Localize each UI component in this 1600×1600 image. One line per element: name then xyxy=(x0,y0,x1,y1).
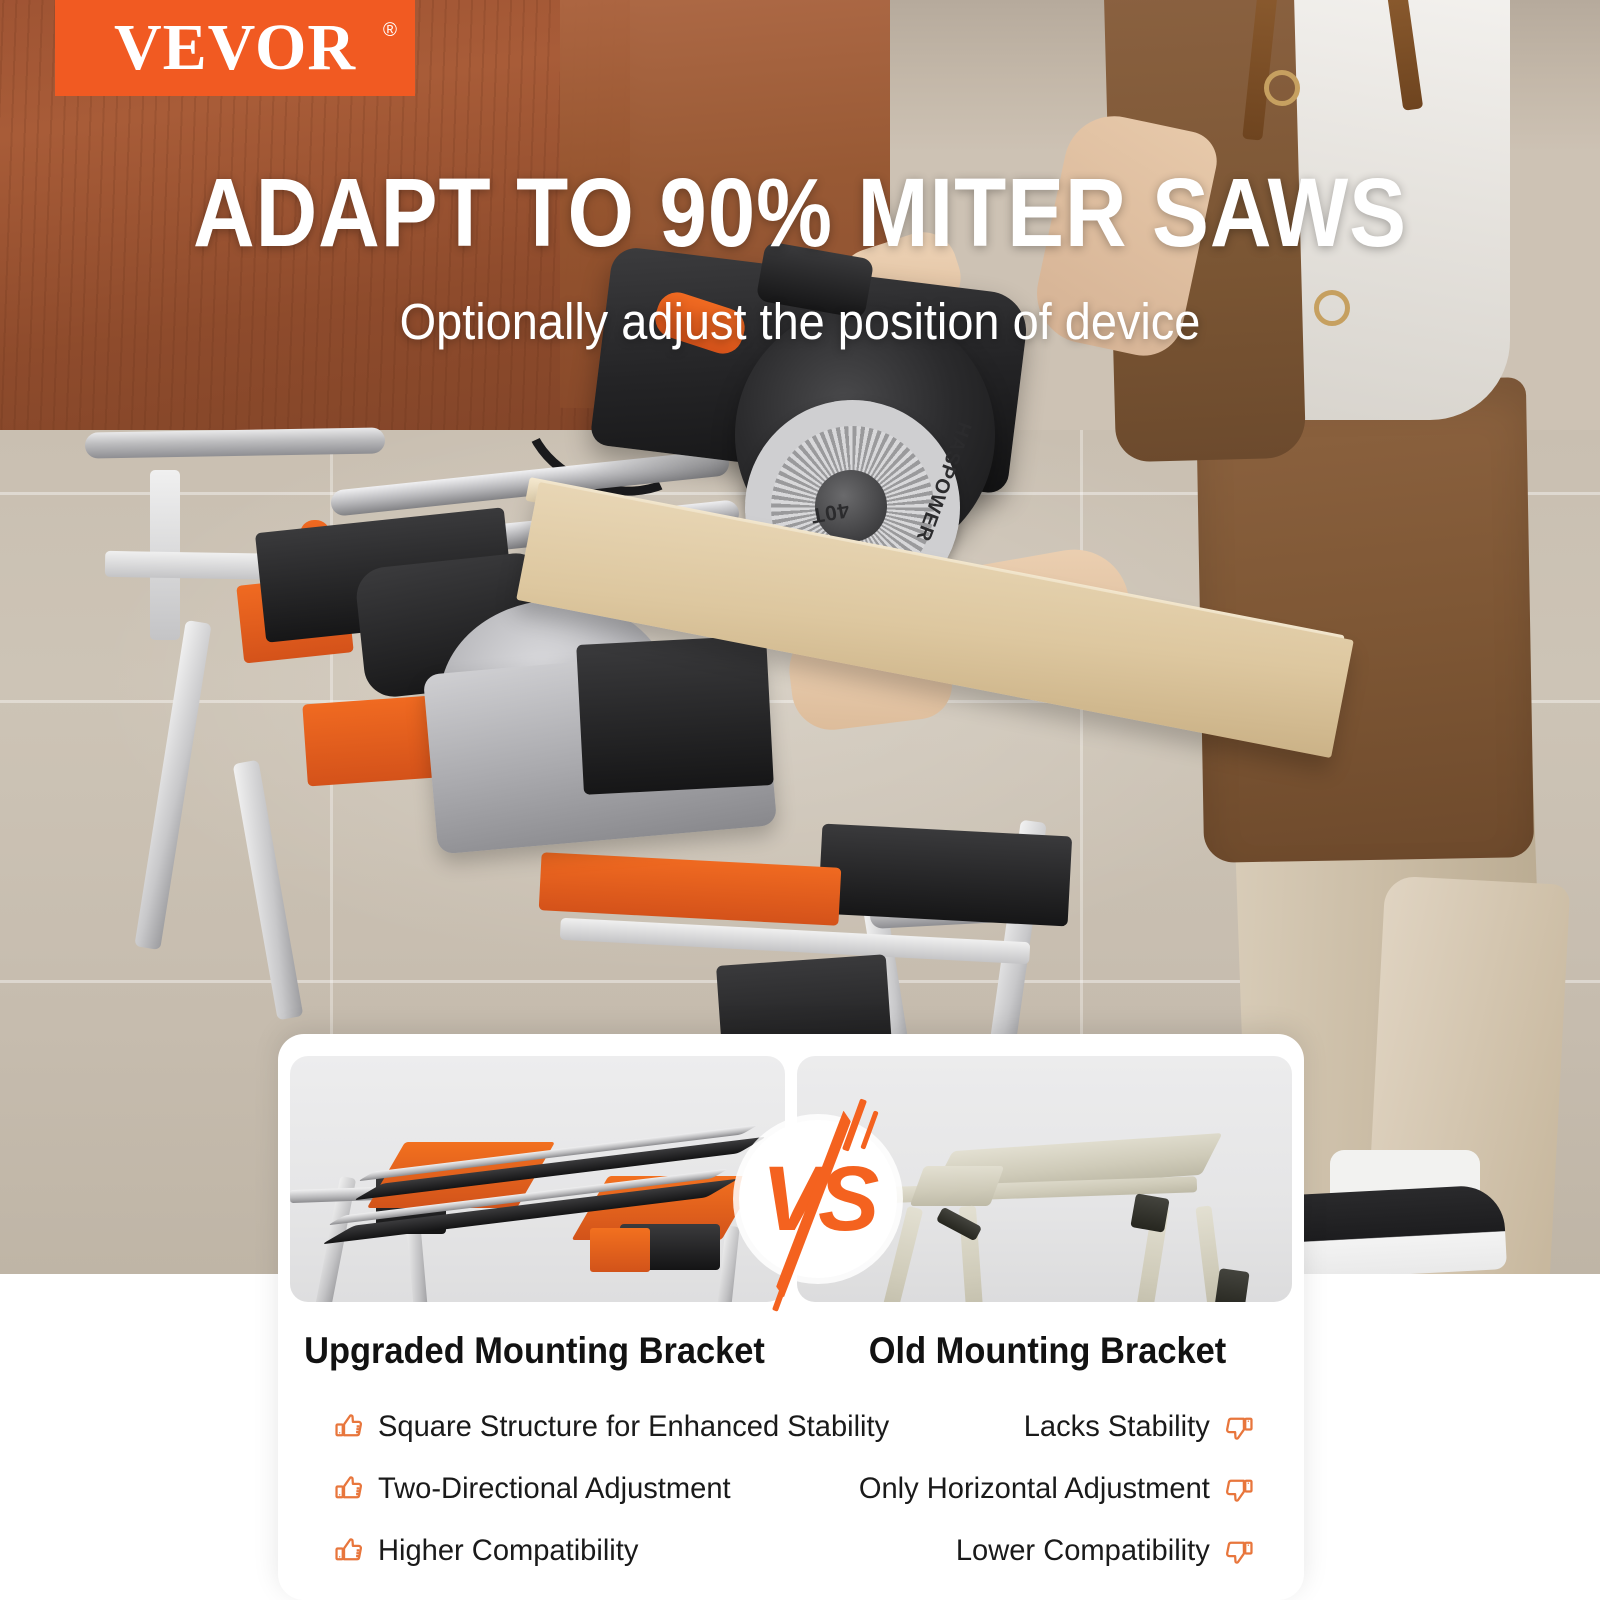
thumbs-up-icon xyxy=(332,1534,366,1568)
worker-shoe xyxy=(1273,1184,1507,1274)
thumbs-down-icon xyxy=(1222,1410,1256,1444)
vs-badge: VS xyxy=(739,1120,897,1278)
apron-buckle xyxy=(1264,70,1300,106)
old-bracket-title: Old Mounting Bracket xyxy=(809,1330,1286,1372)
feature-text: Lower Compatibility xyxy=(956,1534,1210,1568)
thumbs-up-icon xyxy=(332,1472,366,1506)
bracket-clamp-front xyxy=(302,696,437,787)
product-marketing-image: 40T HASPOWER VEVOR ® ADAPT TO 90% MITER … xyxy=(0,0,1600,1600)
old-bracket-foot-cap xyxy=(1130,1193,1169,1232)
stand-extension-roller-left xyxy=(85,427,385,458)
old-bracket-joint xyxy=(910,1166,1005,1206)
old-feature-cell: Lower Compatibility xyxy=(794,1534,1304,1568)
upgraded-bracket-image xyxy=(290,1056,785,1302)
vevor-logo: VEVOR ® xyxy=(55,0,415,96)
feature-text: Lacks Stability xyxy=(1024,1410,1210,1444)
page-subtitle: Optionally adjust the position of device xyxy=(64,296,1536,347)
comparison-card: VS Upgraded Mounting Bracket Old Mountin… xyxy=(278,1034,1304,1600)
feature-text: Higher Compatibility xyxy=(378,1534,638,1568)
thumbs-down-icon xyxy=(1222,1534,1256,1568)
comparison-feature-rows: Square Structure for Enhanced Stability … xyxy=(278,1396,1304,1582)
comparison-titles: Upgraded Mounting Bracket Old Mounting B… xyxy=(278,1330,1304,1372)
upgraded-feature-cell: Two-Directional Adjustment xyxy=(278,1472,794,1506)
saw-fence xyxy=(576,635,774,795)
bracket-corner-orange xyxy=(590,1228,650,1272)
thumbs-up-icon xyxy=(332,1410,366,1444)
thumbs-down-icon xyxy=(1222,1472,1256,1506)
old-bracket-foot-cap xyxy=(1214,1268,1249,1302)
feature-row: Square Structure for Enhanced Stability … xyxy=(278,1396,1304,1458)
registered-trademark-icon: ® xyxy=(383,20,397,42)
old-feature-cell: Lacks Stability xyxy=(905,1410,1304,1444)
feature-text: Square Structure for Enhanced Stability xyxy=(378,1410,889,1444)
vevor-logo-text: VEVOR xyxy=(55,0,415,96)
page-title: ADAPT TO 90% MITER SAWS xyxy=(96,164,1504,261)
upgraded-feature-cell: Higher Compatibility xyxy=(278,1534,794,1568)
feature-text: Only Horizontal Adjustment xyxy=(859,1472,1210,1506)
upgraded-feature-cell: Square Structure for Enhanced Stability xyxy=(278,1410,905,1444)
old-feature-cell: Only Horizontal Adjustment xyxy=(794,1472,1304,1506)
stand-mount-plate xyxy=(818,824,1072,927)
feature-text: Two-Directional Adjustment xyxy=(378,1472,731,1506)
comparison-images: VS xyxy=(290,1056,1292,1302)
feature-row: Higher Compatibility Lower Compatibility xyxy=(278,1520,1304,1582)
upgraded-bracket-title: Upgraded Mounting Bracket xyxy=(296,1330,773,1372)
feature-row: Two-Directional Adjustment Only Horizont… xyxy=(278,1458,1304,1520)
